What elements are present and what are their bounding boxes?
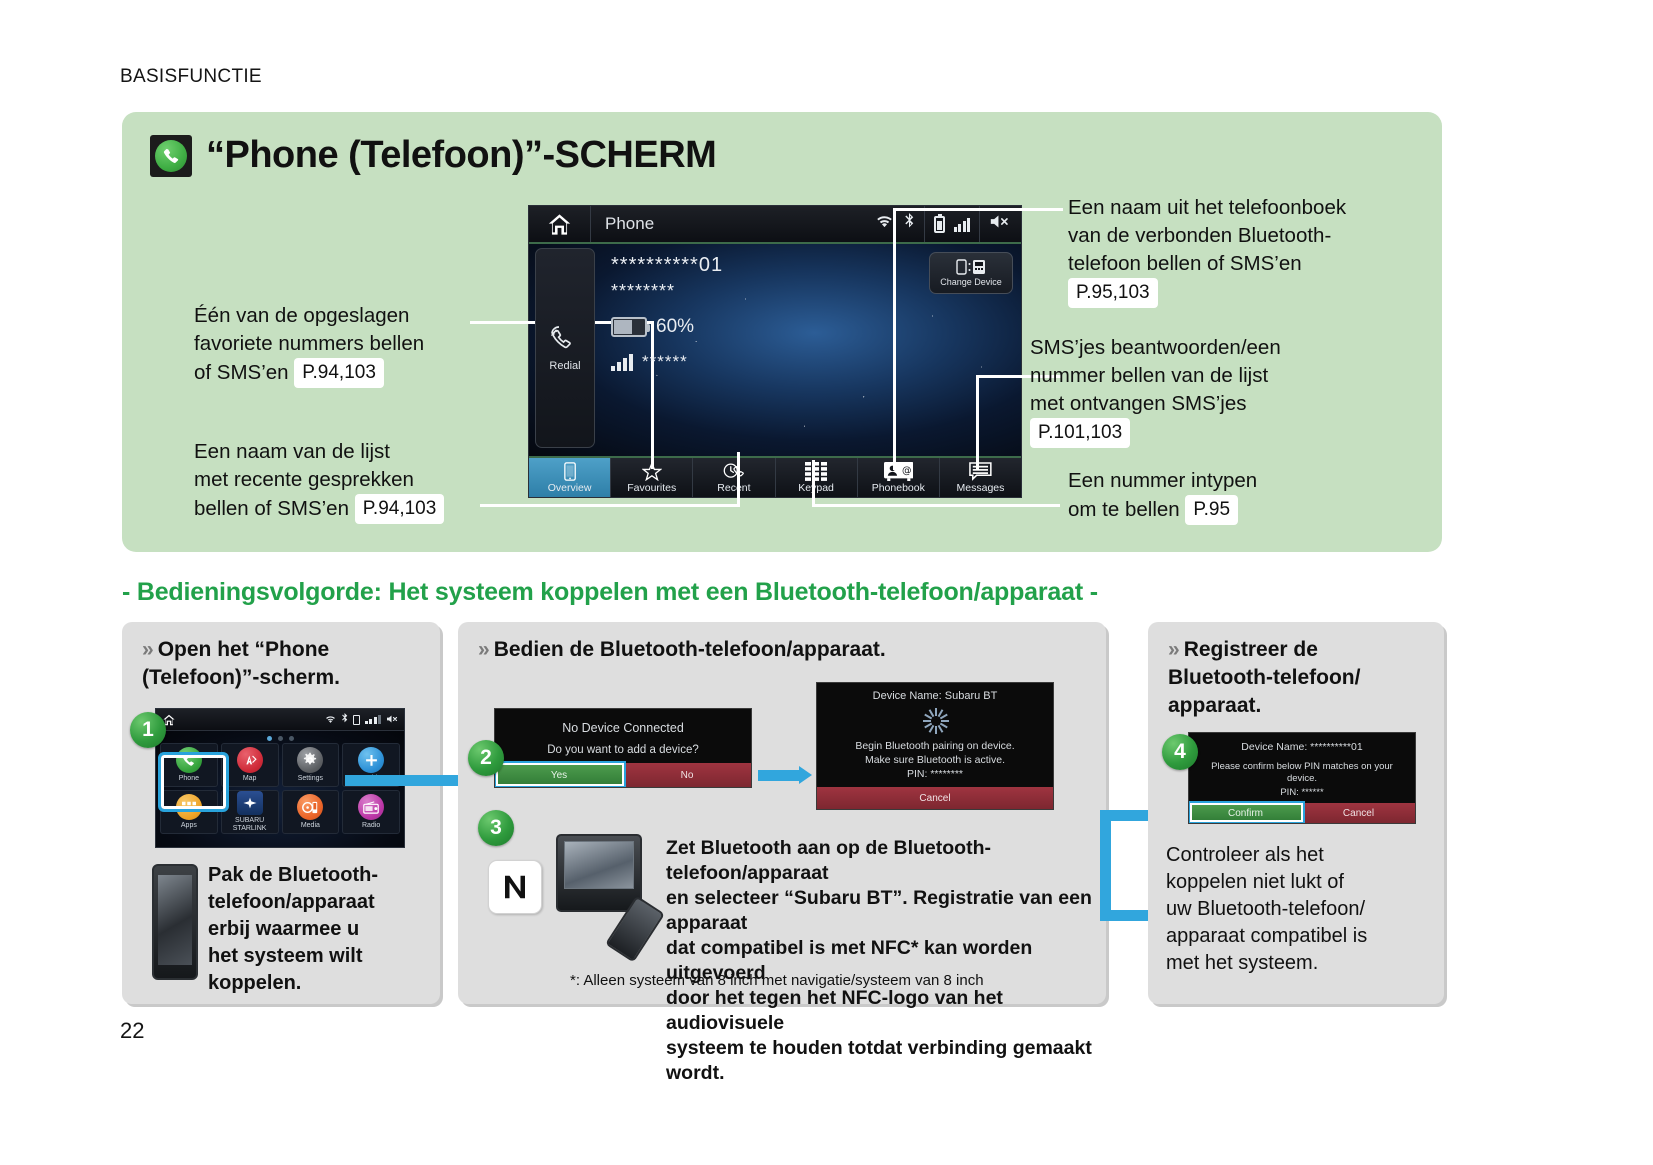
- no-button[interactable]: No: [623, 763, 751, 787]
- callout-messages-l2: nummer bellen van de lijst: [1030, 364, 1268, 387]
- recent-call-icon: [723, 461, 745, 481]
- phone-battery-icon: [611, 317, 647, 337]
- connected-device-info: **********01 ******** 60% ******: [611, 254, 723, 372]
- panel2-body-l1: Zet Bluetooth aan op de Bluetooth-telefo…: [666, 837, 991, 884]
- pairing-pin: PIN: ********: [817, 768, 1053, 780]
- home-screen-status-bar: [156, 709, 404, 731]
- flow-arrow-2-4-v: [1100, 810, 1111, 920]
- home-status-icons: [325, 709, 401, 730]
- flow-arrow-1-2: [345, 775, 467, 786]
- step-panel-open-phone-screen: »Open het “Phone (Telefoon)”-scherm. 1 P…: [122, 622, 440, 1004]
- bluetooth-icon: [341, 711, 348, 729]
- panel2-body-l4: door het tegen het NFC-logo van het audi…: [666, 987, 1003, 1034]
- svg-text:@: @: [901, 465, 910, 476]
- wifi-icon: [875, 214, 894, 234]
- app-tile-starlink-label: SUBARU STARLINK: [222, 817, 278, 833]
- step-bubble-2: 2: [468, 740, 504, 776]
- app-tile-phone[interactable]: Phone: [160, 743, 218, 787]
- callout-recent-ref[interactable]: P.94,103: [355, 494, 445, 524]
- page-number: 22: [120, 1018, 144, 1044]
- chevron-right-icon: »: [478, 638, 490, 661]
- pin-line1: Please confirm below PIN matches on your: [1189, 761, 1415, 772]
- panel1-heading-l1: Open het “Phone: [158, 638, 330, 661]
- phonebook-icon: @: [884, 461, 914, 481]
- callout-keypad-l1: Een nummer intypen: [1068, 469, 1257, 492]
- starlink-icon: [237, 791, 263, 815]
- change-device-icon: [956, 259, 986, 275]
- leader-keypad-v: [812, 460, 815, 507]
- panel3-heading-l3: apparaat.: [1168, 694, 1261, 717]
- mute-icon[interactable]: [386, 711, 400, 729]
- callout-messages-l1: SMS’jes beantwoorden/een: [1030, 336, 1281, 359]
- panel1-heading-l2: (Telefoon)”-scherm.: [142, 666, 340, 689]
- callout-phonebook-l3: telefoon bellen of SMS’en: [1068, 252, 1302, 275]
- callout-keypad-ref[interactable]: P.95: [1185, 495, 1238, 525]
- pin-dialog-buttons: Confirm Cancel: [1189, 803, 1415, 823]
- step-panel-operate-bluetooth-device: »Bedien de Bluetooth-telefoon/apparaat. …: [458, 622, 1106, 1004]
- step-bubble-3: 3: [478, 810, 514, 846]
- callout-keypad: Een nummer intypen om te bellen P.95: [1068, 467, 1408, 525]
- phone-signal-bars-icon: [611, 353, 633, 371]
- panel1-body-l1: Pak de Bluetooth-: [208, 864, 378, 886]
- battery-row: 60%: [611, 316, 723, 338]
- tab-keypad-label: Keypad: [798, 482, 834, 494]
- status-icon-group: [875, 206, 1022, 242]
- dialog-no-device-connected: No Device Connected Do you want to add a…: [494, 708, 752, 788]
- pairing-line1: Begin Bluetooth pairing on device.: [817, 740, 1053, 752]
- flow-arrow-2-3-head: [799, 766, 812, 784]
- signal-row: ******: [611, 352, 723, 372]
- tab-overview[interactable]: Overview: [529, 458, 611, 497]
- cancel-button-label: Cancel: [1302, 803, 1415, 823]
- pin-value: PIN: ******: [1189, 787, 1415, 798]
- tab-messages[interactable]: Messages: [940, 458, 1021, 497]
- dialog-bluetooth-pairing: Device Name: Subaru BT Begin Bluetooth p…: [816, 682, 1054, 810]
- battery-percent: 60%: [656, 316, 694, 338]
- change-device-label: Change Device: [940, 277, 1002, 287]
- chevron-right-icon: »: [1168, 638, 1180, 661]
- leader-recent-v: [737, 452, 740, 506]
- status-divider-2: [979, 206, 980, 242]
- app-tile-settings[interactable]: Settings: [282, 743, 340, 787]
- panel1-body-text: Pak de Bluetooth- telefoon/apparaat erbi…: [208, 862, 423, 997]
- tab-recent[interactable]: Recent: [693, 458, 775, 497]
- app-tile-apps[interactable]: Apps: [160, 790, 218, 834]
- device-name-masked: **********01: [611, 254, 723, 277]
- callout-recent: Een naam van de lijst met recente gespre…: [194, 438, 494, 524]
- tab-keypad[interactable]: Keypad: [776, 458, 858, 497]
- head-unit-main-area: Redial **********01 ******** 60% ******: [529, 244, 1021, 456]
- head-unit-tab-bar: Overview Favourites Recent: [529, 456, 1021, 497]
- dialog-add-buttons: Yes No: [495, 763, 751, 787]
- page-title: “Phone (Telefoon)”-SCHERM: [206, 134, 716, 177]
- callout-messages: SMS’jes beantwoorden/een nummer bellen v…: [1030, 334, 1390, 448]
- leader-phonebook-h: [893, 208, 1063, 211]
- page-dots: [160, 735, 400, 743]
- panel1-heading: »Open het “Phone (Telefoon)”-scherm.: [142, 636, 428, 692]
- yes-button-label: Yes: [495, 763, 623, 787]
- app-tile-radio[interactable]: Radio: [342, 790, 400, 834]
- status-divider: [924, 206, 925, 242]
- no-button-label: No: [623, 763, 751, 787]
- panel2-body-text: Zet Bluetooth aan op de Bluetooth-telefo…: [666, 836, 1096, 1086]
- smartphone-icon: [564, 461, 576, 481]
- signal-masked-text: ******: [642, 352, 688, 372]
- home-screen-app-grid: Phone Map Settings Add Apps: [156, 731, 404, 848]
- panel3-body-l2: koppelen niet lukt of: [1166, 871, 1344, 893]
- panel1-body-l5: koppelen.: [208, 972, 301, 994]
- change-device-button[interactable]: Change Device: [929, 252, 1013, 294]
- gear-icon: [297, 747, 323, 773]
- leader-keypad-h: [812, 504, 1060, 507]
- head-unit-photo: [556, 834, 642, 912]
- home-icon[interactable]: [529, 206, 591, 242]
- panel3-heading: »Registreer de Bluetooth-telefoon/ appar…: [1168, 636, 1432, 720]
- media-disc-icon: [297, 794, 323, 820]
- step-bubble-1: 1: [130, 712, 166, 748]
- apps-grid-icon: [176, 794, 202, 820]
- radio-icon: [358, 794, 384, 820]
- panel3-body-l4: apparaat compatibel is: [1166, 925, 1367, 947]
- battery-icon: [934, 216, 945, 233]
- dialog-add-title: No Device Connected: [495, 721, 751, 735]
- panel3-body-text: Controleer als het koppelen niet lukt of…: [1166, 842, 1436, 977]
- app-tile-settings-label: Settings: [298, 775, 323, 783]
- callout-favourites: Één van de opgeslagen favoriete nummers …: [194, 302, 484, 388]
- app-tiles: Phone Map Settings Add Apps: [160, 743, 400, 834]
- app-tile-media[interactable]: Media: [282, 790, 340, 834]
- callout-messages-ref[interactable]: P.101,103: [1030, 418, 1130, 448]
- smartphone-photo-icon: [152, 864, 198, 980]
- leader-phonebook-v: [893, 208, 896, 470]
- tab-phonebook-label: Phonebook: [872, 482, 925, 494]
- map-pin-icon: [237, 747, 263, 773]
- app-tile-starlink[interactable]: SUBARU STARLINK: [221, 790, 279, 834]
- panel1-body-l3: erbij waarmee u: [208, 918, 359, 940]
- pairing-cancel-label: Cancel: [817, 787, 1053, 809]
- dialog-confirm-pin: Device Name: **********01 Please confirm…: [1188, 732, 1416, 824]
- nfc-logo-icon: [488, 860, 542, 914]
- loading-spinner-icon: [922, 708, 948, 734]
- panel1-body-l2: telefoon/apparaat: [208, 891, 375, 913]
- phone-handset-icon: [150, 135, 192, 177]
- callout-phonebook-ref[interactable]: P.95,103: [1068, 278, 1158, 308]
- plus-icon: [358, 747, 384, 773]
- hero-title-row: “Phone (Telefoon)”-SCHERM: [150, 134, 716, 177]
- head-unit-phone-screen: Phone Redial: [528, 205, 1022, 498]
- redial-label: Redial: [549, 360, 580, 372]
- step-bubble-4: 4: [1162, 734, 1198, 770]
- pairing-line2: Make sure Bluetooth is active.: [817, 754, 1053, 766]
- panel1-body-l4: het systeem wilt: [208, 945, 363, 967]
- yes-button[interactable]: Yes: [495, 763, 623, 787]
- panel2-heading-text: Bedien de Bluetooth-telefoon/apparaat.: [494, 638, 886, 661]
- section-heading: - Bedieningsvolgorde: Het systeem koppel…: [122, 578, 1098, 607]
- tab-recent-label: Recent: [717, 482, 750, 494]
- pairing-cancel-button[interactable]: Cancel: [817, 787, 1053, 809]
- phone-handset-icon: [176, 747, 202, 773]
- pin-line2: device.: [1189, 773, 1415, 784]
- running-head: BASISFUNCTIE: [120, 66, 262, 88]
- panel3-body-l3: uw Bluetooth-telefoon/: [1166, 898, 1365, 920]
- signal-bars-icon: [365, 715, 382, 724]
- callout-messages-l3: met ontvangen SMS’jes: [1030, 392, 1247, 415]
- callout-phonebook-l2: van de verbonden Bluetooth-: [1068, 224, 1331, 247]
- signal-bars-icon: [954, 217, 971, 232]
- pin-device-name: Device Name: **********01: [1189, 741, 1415, 753]
- message-bubble-icon: [969, 461, 992, 481]
- callout-favourites-l3: of SMS’en: [194, 361, 289, 384]
- callout-phonebook: Een naam uit het telefoonboek van de ver…: [1068, 194, 1428, 308]
- redial-button[interactable]: Redial: [535, 248, 595, 448]
- device-number-masked: ********: [611, 281, 723, 302]
- app-tile-media-label: Media: [301, 822, 320, 830]
- leader-recent-h: [480, 504, 740, 507]
- panel3-heading-l1: Registreer de: [1184, 638, 1318, 661]
- callout-recent-l1: Een naam van de lijst: [194, 440, 390, 463]
- panel3-body-l5: met het systeem.: [1166, 952, 1318, 974]
- callout-phonebook-l1: Een naam uit het telefoonboek: [1068, 196, 1346, 219]
- pairing-device-name: Device Name: Subaru BT: [817, 690, 1053, 702]
- callout-recent-l3: bellen of SMS’en: [194, 497, 349, 520]
- head-unit-title: Phone: [605, 214, 654, 234]
- chevron-right-icon: »: [142, 638, 154, 661]
- tab-messages-label: Messages: [957, 482, 1005, 494]
- panel3-heading-l2: Bluetooth-telefoon/: [1168, 666, 1360, 689]
- flow-arrow-2-3: [758, 770, 800, 781]
- tab-phonebook[interactable]: @ Phonebook: [858, 458, 940, 497]
- bluetooth-icon: [903, 213, 915, 235]
- app-tile-map-label: Map: [243, 775, 257, 783]
- step-panel-register-bluetooth-device: »Registreer de Bluetooth-telefoon/ appar…: [1148, 622, 1444, 1004]
- callout-favourites-l1: Één van de opgeslagen: [194, 304, 409, 327]
- leader-messages-v: [976, 375, 979, 470]
- tab-overview-label: Overview: [548, 482, 592, 494]
- battery-icon: [353, 715, 360, 725]
- cancel-button[interactable]: Cancel: [1302, 803, 1415, 823]
- head-unit-status-bar: Phone: [529, 206, 1021, 244]
- confirm-button-label: Confirm: [1189, 803, 1302, 823]
- app-tile-radio-label: Radio: [362, 822, 380, 830]
- app-tile-apps-label: Apps: [181, 822, 197, 830]
- panel3-body-l1: Controleer als het: [1166, 844, 1324, 866]
- callout-favourites-ref[interactable]: P.94,103: [294, 358, 384, 388]
- panel2-footnote: *: Alleen systeem van 8 inch met navigat…: [570, 972, 984, 989]
- callout-keypad-l2: om te bellen: [1068, 498, 1180, 521]
- callout-recent-l2: met recente gesprekken: [194, 468, 414, 491]
- keypad-grid-icon: [805, 461, 827, 481]
- tab-favourites-label: Favourites: [627, 482, 676, 494]
- wifi-icon: [325, 711, 336, 729]
- panel2-body-l2: en selecteer “Subaru BT”. Registratie va…: [666, 887, 1092, 934]
- dialog-add-question: Do you want to add a device?: [495, 744, 751, 756]
- app-tile-map[interactable]: Map: [221, 743, 279, 787]
- mute-icon[interactable]: [989, 213, 1013, 235]
- confirm-button[interactable]: Confirm: [1189, 803, 1302, 823]
- app-tile-phone-label: Phone: [179, 775, 199, 783]
- panel2-heading: »Bedien de Bluetooth-telefoon/apparaat.: [478, 636, 1094, 664]
- phone-screen-overview-panel: “Phone (Telefoon)”-SCHERM Phone: [122, 112, 1442, 552]
- callout-favourites-l2: favoriete nummers bellen: [194, 332, 424, 355]
- panel2-body-l5: systeem te houden totdat verbinding gema…: [666, 1037, 1092, 1084]
